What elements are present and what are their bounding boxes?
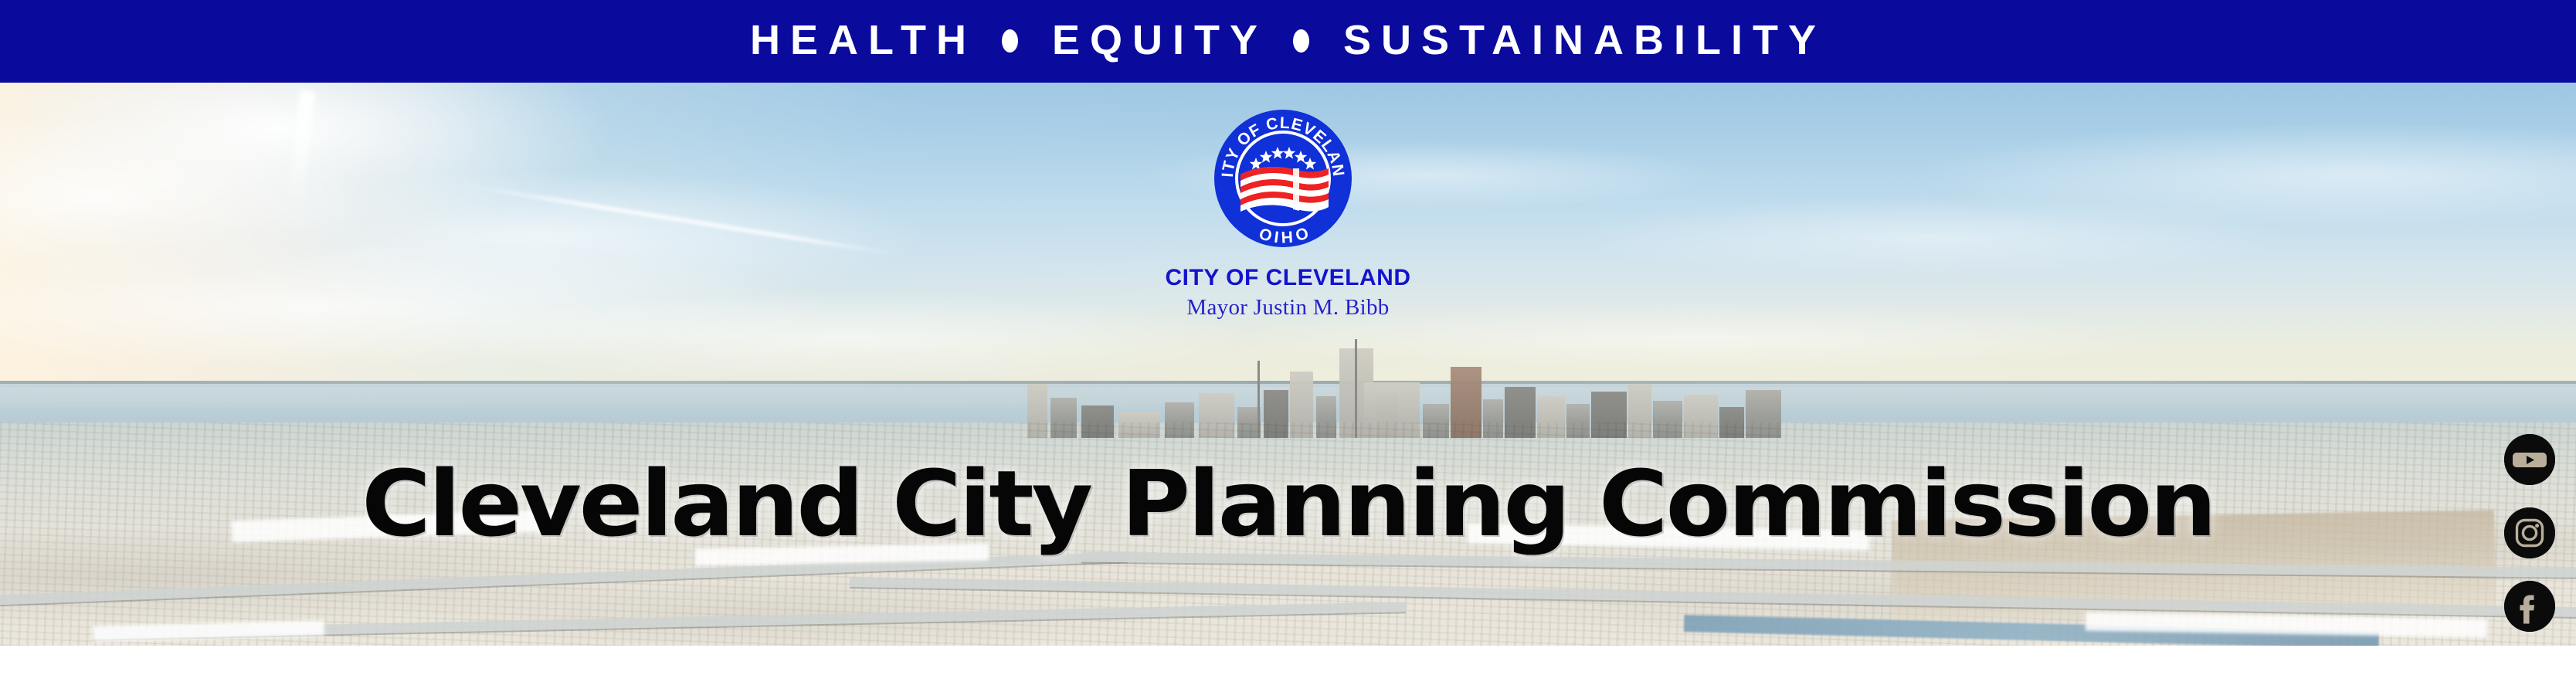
hero-banner-photo: CITY OF CLEVELAND OHIO (0, 83, 2576, 646)
page-title: Cleveland City Planning Commission (0, 458, 2576, 549)
banner-word-row: HEALTH EQUITY SUSTAINABILITY (750, 19, 1826, 61)
banner-word-equity: EQUITY (1052, 19, 1268, 61)
bottom-white-strip (0, 646, 2576, 682)
top-banner: HEALTH EQUITY SUSTAINABILITY (0, 0, 2576, 83)
bullet-dot-icon (1002, 29, 1018, 53)
instagram-icon[interactable] (2504, 507, 2555, 558)
city-of-cleveland-seal-icon: CITY OF CLEVELAND OHIO (1213, 108, 1353, 249)
brand-city-label: CITY OF CLEVELAND (0, 265, 2576, 291)
facebook-icon[interactable] (2504, 581, 2555, 632)
social-links-rail (2504, 434, 2555, 632)
banner-word-sustainability: SUSTAINABILITY (1343, 19, 1826, 61)
bullet-dot-icon (1293, 29, 1309, 53)
banner-word-health: HEALTH (750, 19, 976, 61)
youtube-icon[interactable] (2504, 434, 2555, 485)
brand-mayor-label: Mayor Justin M. Bibb (0, 295, 2576, 321)
